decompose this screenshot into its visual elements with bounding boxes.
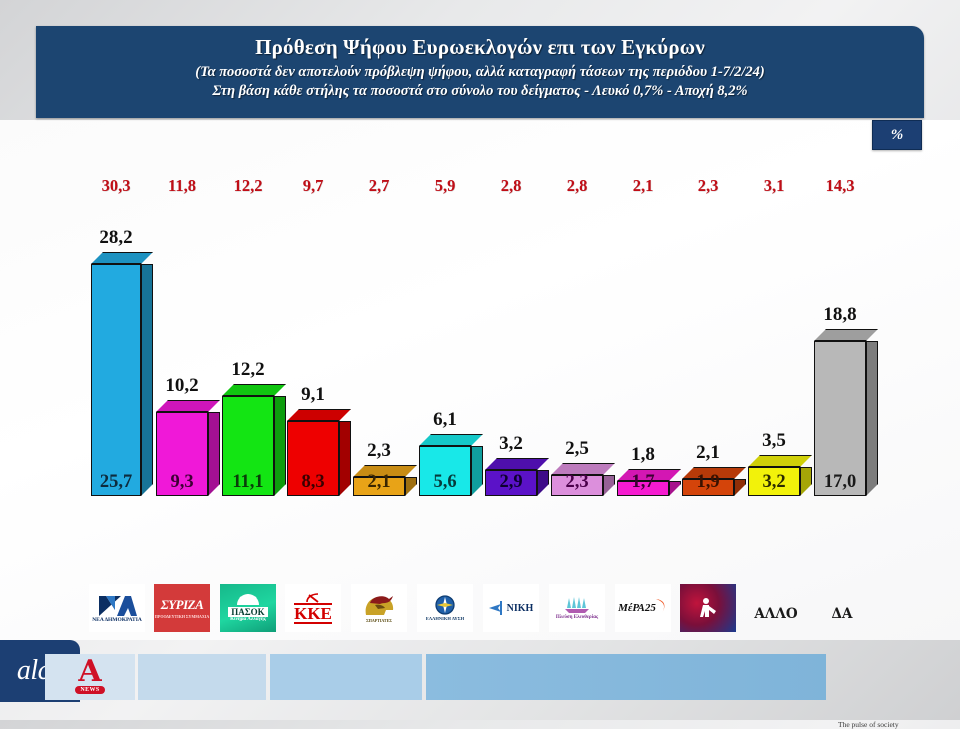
- alco-tagline: The pulse of society: [838, 720, 948, 729]
- bar-inner-value-label: 25,7: [91, 472, 141, 493]
- bar-side-face: [274, 396, 286, 496]
- pasok-wordmark: ΠΑΣΟΚ: [228, 607, 267, 617]
- bar-top-value-label: 10,2: [146, 375, 218, 397]
- bar-top-value-label: 9,1: [277, 384, 349, 406]
- niki-wordmark: ΝΙΚΗ: [507, 603, 534, 614]
- bar-side-face: [800, 467, 812, 496]
- bar-top-value-label: 12,2: [212, 359, 284, 381]
- bar-side-face: [537, 470, 549, 496]
- bar-inner-value-label: 17,0: [814, 472, 866, 493]
- slide-footer: A NEWS alco The pulse of society: [0, 640, 960, 720]
- bar-side-face: [603, 475, 615, 496]
- bar-top-value-label: 2,1: [672, 442, 744, 464]
- bar-column: 3,22,9: [485, 470, 537, 496]
- mera25-swoosh-icon: [656, 597, 668, 615]
- bar-side-face: [405, 477, 417, 496]
- bar-side-face: [208, 412, 220, 496]
- syriza-sub-text: ΠΡΟΟΔΕΥΤΙΚΗ ΣΥΜΜΑΧΙΑ: [155, 615, 209, 619]
- bar-column: 3,53,2: [748, 467, 800, 496]
- bar-top-face: [156, 400, 220, 412]
- bar-side-face: [669, 481, 681, 496]
- footer-block-2: [270, 654, 422, 700]
- bar-top-value-label: 18,8: [804, 304, 876, 326]
- bar-inner-value-label: 9,3: [156, 472, 208, 493]
- bar-top-face: [485, 458, 549, 470]
- slide-root: Πρόθεση Ψήφου Ευρωεκλογών επι των Εγκύρω…: [0, 0, 960, 720]
- sailboat-icon: [563, 596, 591, 614]
- kke-wordmark: ΚΚΕ: [294, 603, 332, 624]
- bar-column: 18,817,0: [814, 341, 866, 496]
- bar-column: 2,11,9: [682, 479, 734, 496]
- plefsi-name-text: Πλεύση Ελευθερίας: [556, 615, 598, 620]
- allo-label: ΑΛΛΟ: [740, 606, 812, 622]
- bar-top-face: [287, 409, 351, 421]
- pasok-sun-icon: [235, 594, 261, 606]
- bar-top-value-label: 1,8: [607, 444, 679, 466]
- bar-front-face: [91, 264, 141, 496]
- komma-logo: [680, 584, 736, 632]
- plefsi-eleftherias-logo: Πλεύση Ελευθερίας: [549, 584, 605, 632]
- bar-inner-value-label: 1,9: [682, 472, 734, 493]
- bar-top-face: [814, 329, 878, 341]
- bar-column: 9,18,3: [287, 421, 339, 496]
- bar-column: 10,29,3: [156, 412, 208, 496]
- compass-icon: [434, 594, 456, 616]
- bar-top-value-label: 3,2: [475, 433, 547, 455]
- pasok-sub-text: Κίνημα Αλλαγής: [230, 617, 266, 622]
- mera25-logo: ΜέΡΑ25: [615, 584, 671, 632]
- bar-column: 2,52,3: [551, 475, 603, 496]
- bar-column: 28,225,7: [91, 264, 141, 496]
- footer-block-3: [426, 654, 826, 700]
- bar-inner-value-label: 11,1: [222, 472, 274, 493]
- syriza-logo: ΣΥΡΙΖΑΠΡΟΟΔΕΥΤΙΚΗ ΣΥΜΜΑΧΙΑ: [154, 584, 210, 632]
- pasok-logo: ΠΑΣΟΚΚίνημα Αλλαγής: [220, 584, 276, 632]
- bar-column: 2,32,1: [353, 477, 405, 496]
- da-label: ΔΑ: [806, 606, 878, 622]
- footer-block-1: [138, 654, 266, 700]
- elliniki-lysi-logo: ΕΛΛΗΝΙΚΗ ΛΥΣΗ: [417, 584, 473, 632]
- spartiates-logo: ΣΠΑΡΤΙΑΤΕΣ: [351, 584, 407, 632]
- niki-logo: ΝΙΚΗ: [483, 584, 539, 632]
- bar-column: 1,81,7: [617, 481, 669, 496]
- bar-inner-value-label: 2,3: [551, 472, 603, 493]
- bar-column: 6,15,6: [419, 446, 471, 496]
- bar-top-face: [748, 455, 812, 467]
- hammer-sickle-icon: [306, 593, 320, 603]
- bar-inner-value-label: 8,3: [287, 472, 339, 493]
- bar-top-value-label: 6,1: [409, 409, 481, 431]
- spartan-helmet-icon: [362, 593, 396, 619]
- alpha-news-label: NEWS: [75, 686, 104, 694]
- alpha-news-logo: A NEWS: [45, 654, 135, 700]
- bar-inner-value-label: 5,6: [419, 472, 471, 493]
- bar-top-value-label: 2,3: [343, 440, 415, 462]
- bar-top-value-label: 28,2: [81, 227, 151, 249]
- komma-figure-icon: [698, 597, 718, 619]
- bar-top-value-label: 2,5: [541, 438, 613, 460]
- bar-top-face: [419, 434, 483, 446]
- bar-top-value-label: 3,5: [738, 430, 810, 452]
- niki-wings-icon: [489, 600, 507, 616]
- bar-inner-value-label: 1,7: [617, 472, 669, 493]
- bar-top-face: [91, 252, 153, 264]
- bar-inner-value-label: 2,1: [353, 472, 405, 493]
- bar-side-face: [734, 479, 746, 496]
- mera25-wordmark: ΜέΡΑ25: [618, 602, 656, 614]
- nea-dimokratia-logo: ΝΕΑ ΔΗΜΟΚΡΑΤΙΑ: [89, 584, 145, 632]
- spartiates-name-text: ΣΠΑΡΤΙΑΤΕΣ: [366, 619, 392, 623]
- bar-inner-value-label: 2,9: [485, 472, 537, 493]
- nd-name-text: ΝΕΑ ΔΗΜΟΚΡΑΤΙΑ: [92, 618, 142, 624]
- bar-series-group: 28,225,710,29,312,211,19,18,32,32,16,15,…: [0, 0, 960, 640]
- alpha-letter: A: [78, 660, 101, 685]
- syriza-wordmark: ΣΥΡΙΖΑ: [161, 597, 204, 613]
- nd-emblem-icon: [97, 592, 137, 618]
- kke-logo: ΚΚΕ: [285, 584, 341, 632]
- bar-side-face: [866, 341, 878, 496]
- bar-column: 12,211,1: [222, 396, 274, 496]
- party-logo-strip: ΝΕΑ ΔΗΜΟΚΡΑΤΙΑΣΥΡΙΖΑΠΡΟΟΔΕΥΤΙΚΗ ΣΥΜΜΑΧΙΑ…: [0, 580, 960, 632]
- bar-inner-value-label: 3,2: [748, 472, 800, 493]
- elliniki-lysi-name-text: ΕΛΛΗΝΙΚΗ ΛΥΣΗ: [426, 617, 464, 622]
